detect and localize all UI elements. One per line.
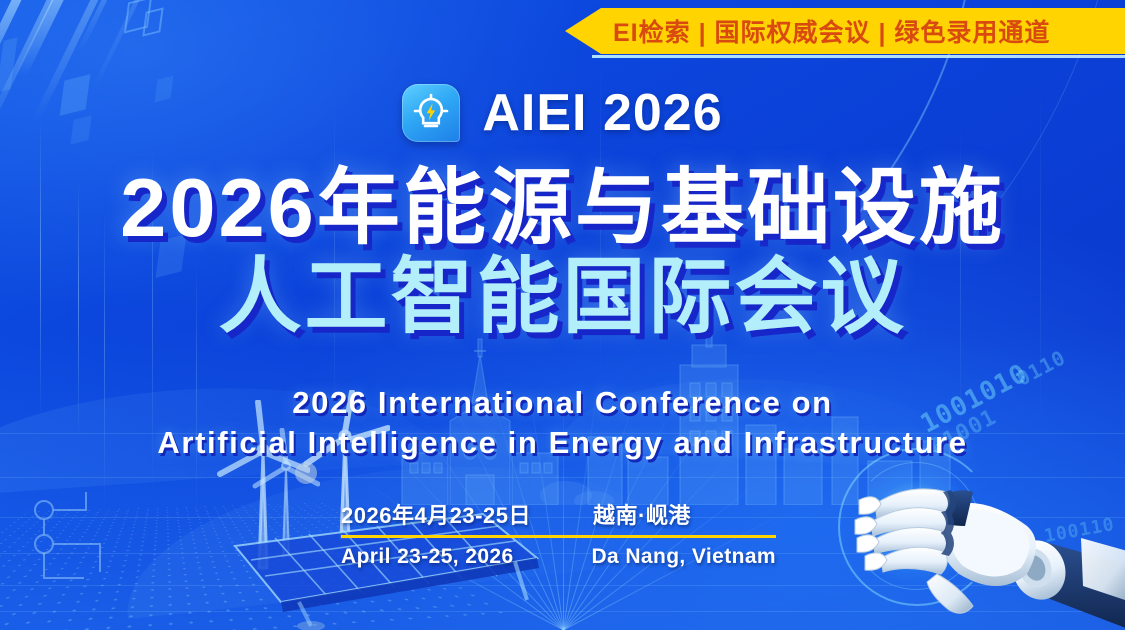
event-date-cn: 2026年4月23-25日 bbox=[341, 498, 593, 530]
event-date-en: April 23-25, 2026 bbox=[341, 545, 591, 569]
headline-cn-line2: 人工智能国际会议 bbox=[0, 253, 1125, 342]
headline-english: 2026 International Conference on Artific… bbox=[0, 383, 1125, 462]
top-ribbon-badge: EI检索 | 国际权威会议 | 绿色录用通道 bbox=[565, 8, 1125, 54]
headline-en-line2: Artificial Intelligence in Energy and In… bbox=[0, 423, 1125, 463]
lightbulb-target-icon bbox=[402, 84, 460, 142]
event-info-row-en: April 23-25, 2026 Da Nang, Vietnam bbox=[341, 545, 776, 579]
headline-en-line1: 2026 International Conference on bbox=[0, 383, 1125, 423]
headline-cn-line1: 2026年能源与基础设施 bbox=[0, 164, 1125, 253]
event-info-divider bbox=[341, 535, 776, 538]
event-place-en: Da Nang, Vietnam bbox=[591, 545, 776, 569]
event-info-row-cn: 2026年4月23-25日 越南·岘港 bbox=[341, 498, 776, 532]
brand-block: AIEI 2026 bbox=[0, 84, 1125, 142]
top-ribbon-label: EI检索 | 国际权威会议 | 绿色录用通道 bbox=[613, 13, 1050, 49]
brand-title: AIEI 2026 bbox=[482, 87, 722, 139]
headline-chinese: 2026年能源与基础设施 人工智能国际会议 bbox=[0, 164, 1125, 342]
event-place-cn: 越南·岘港 bbox=[593, 498, 776, 530]
top-ribbon-underline bbox=[592, 55, 1125, 58]
event-info-block: 2026年4月23-25日 越南·岘港 April 23-25, 2026 Da… bbox=[341, 498, 776, 579]
conference-poster: 1001010 0110 01001 100110 0101 bbox=[0, 0, 1125, 630]
poster-content: EI检索 | 国际权威会议 | 绿色录用通道 AIEI 2026 bbox=[0, 0, 1125, 630]
